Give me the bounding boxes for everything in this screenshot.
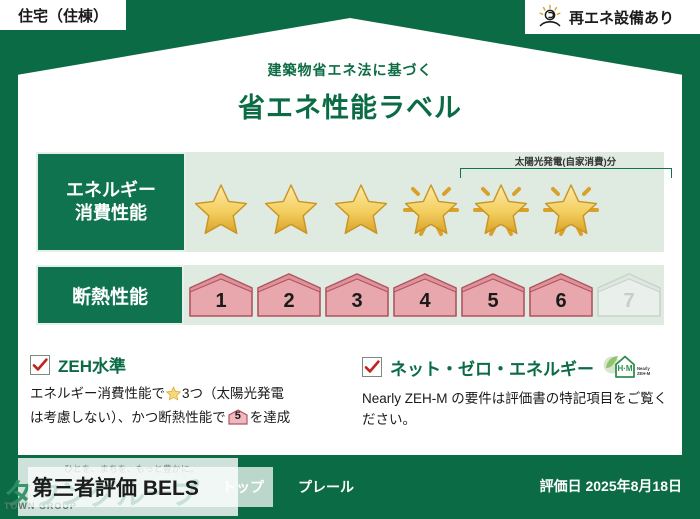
checkmark-icon bbox=[364, 359, 380, 375]
svg-text:ZEH-M: ZEH-M bbox=[637, 371, 650, 376]
callout-net-zero-energy-title: ネット・ゼロ・エネルギー bbox=[390, 355, 594, 380]
insulation-grade-value: 1 bbox=[188, 290, 254, 313]
insulation-grade-3: 3 bbox=[324, 272, 390, 318]
building-type-tag-label: 住宅（住棟） bbox=[18, 5, 108, 26]
checkmark-icon bbox=[32, 357, 48, 373]
callout-net-zero-energy: ネット・ゼロ・エネルギー H·M Nearly ZEH-M Nearly ZEH… bbox=[362, 352, 670, 431]
energy-label-line2: 消費性能 bbox=[66, 202, 156, 225]
star-solar bbox=[396, 169, 466, 247]
solar-portion-bracket bbox=[460, 168, 672, 178]
insulation-grade-7: 7 bbox=[596, 272, 662, 318]
footer-evaluation-date: 評価日 2025年8月18日 bbox=[540, 476, 682, 496]
insulation-grade-5: 5 bbox=[460, 272, 526, 318]
renewable-energy-tag-label: 再エネ設備あり bbox=[569, 7, 674, 28]
star-rating-strip bbox=[186, 167, 664, 249]
callout-zeh-standard-title: ZEH水準 bbox=[58, 352, 126, 377]
inline-grade-badge: 5 bbox=[228, 409, 248, 425]
callout-group: ZEH水準 エネルギー消費性能で3つ（太陽光発電は考慮しない）、かつ断熱性能で5… bbox=[30, 352, 670, 431]
star-base bbox=[186, 169, 256, 247]
energy-performance-row: エネルギー 消費性能 太陽光発電(自家消費)分 bbox=[36, 152, 664, 252]
energy-performance-scale: 太陽光発電(自家消費)分 bbox=[186, 152, 664, 252]
footer-bar: ひとを、まちを、もっと豊かに。 タウングループ TOWN GROUP 第三者評価… bbox=[0, 455, 700, 519]
energy-label-line1: エネルギー bbox=[66, 179, 156, 202]
label-title: 省エネ性能ラベル bbox=[0, 86, 700, 125]
insulation-grade-value: 3 bbox=[324, 290, 390, 313]
zeh-body-part3: を達成 bbox=[250, 410, 291, 425]
callout-net-zero-energy-body: Nearly ZEH-M の要件は評価書の特記項目をご覧ください。 bbox=[362, 389, 670, 431]
label-subtitle: 建築物省エネ法に基づく bbox=[0, 60, 700, 80]
svg-text:H·M: H·M bbox=[617, 364, 632, 373]
footer-nav-item-1[interactable]: プレール bbox=[298, 477, 354, 497]
solar-portion-note: 太陽光発電(自家消費)分 bbox=[458, 154, 673, 168]
insulation-performance-row-label: 断熱性能 bbox=[36, 265, 184, 325]
watermark-bels-overlay: 第三者評価 BELS bbox=[28, 467, 273, 507]
solar-sun-icon bbox=[537, 4, 563, 30]
zeh-body-part2: は考慮しない）、かつ断熱性能で bbox=[30, 410, 226, 425]
energy-performance-label: 住宅（住棟） 再エネ設備あり 建築物省エネ法に基づく 省エネ性能ラベル エネルギ… bbox=[0, 0, 700, 519]
insulation-grade-2: 2 bbox=[256, 272, 322, 318]
zeh-body-part1: エネルギー消費性能で bbox=[30, 386, 165, 401]
callout-zeh-standard: ZEH水準 エネルギー消費性能で3つ（太陽光発電は考慮しない）、かつ断熱性能で5… bbox=[30, 352, 338, 431]
insulation-grade-1: 1 bbox=[188, 272, 254, 318]
insulation-grade-value: 5 bbox=[460, 290, 526, 313]
zeh-m-logo-icon: H·M Nearly ZEH-M bbox=[602, 352, 650, 382]
renewable-energy-tag: 再エネ設備あり bbox=[525, 0, 700, 34]
inline-star-icon bbox=[166, 386, 181, 408]
star-base bbox=[256, 169, 326, 247]
insulation-grade-6: 6 bbox=[528, 272, 594, 318]
callout-zeh-standard-body: エネルギー消費性能で3つ（太陽光発電は考慮しない）、かつ断熱性能で5を達成 bbox=[30, 384, 338, 429]
insulation-grade-value: 2 bbox=[256, 290, 322, 313]
zeh-body-stars: 3つ（太陽光発電 bbox=[182, 386, 284, 401]
insulation-grade-value: 7 bbox=[596, 290, 662, 313]
callout-net-zero-energy-head: ネット・ゼロ・エネルギー H·M Nearly ZEH-M bbox=[362, 352, 670, 382]
insulation-performance-row: 断熱性能 1 2 3 4 5 6 7 bbox=[36, 265, 664, 325]
watermark-bels-text: 第三者評価 BELS bbox=[28, 472, 199, 502]
insulation-grade-4: 4 bbox=[392, 272, 458, 318]
insulation-grade-value: 4 bbox=[392, 290, 458, 313]
callout-zeh-standard-head: ZEH水準 bbox=[30, 352, 338, 377]
building-type-tag: 住宅（住棟） bbox=[0, 0, 126, 30]
insulation-grade-value: 6 bbox=[528, 290, 594, 313]
zeh-standard-checkbox[interactable] bbox=[30, 355, 50, 375]
inline-grade-badge-value: 5 bbox=[228, 408, 248, 425]
net-zero-energy-checkbox[interactable] bbox=[362, 357, 382, 377]
energy-performance-row-label: エネルギー 消費性能 bbox=[36, 152, 186, 252]
star-solar bbox=[536, 169, 606, 247]
title-block: 建築物省エネ法に基づく 省エネ性能ラベル bbox=[0, 60, 700, 125]
star-solar bbox=[466, 169, 536, 247]
insulation-grade-scale: 1 2 3 4 5 6 7 bbox=[184, 265, 664, 325]
star-base bbox=[326, 169, 396, 247]
